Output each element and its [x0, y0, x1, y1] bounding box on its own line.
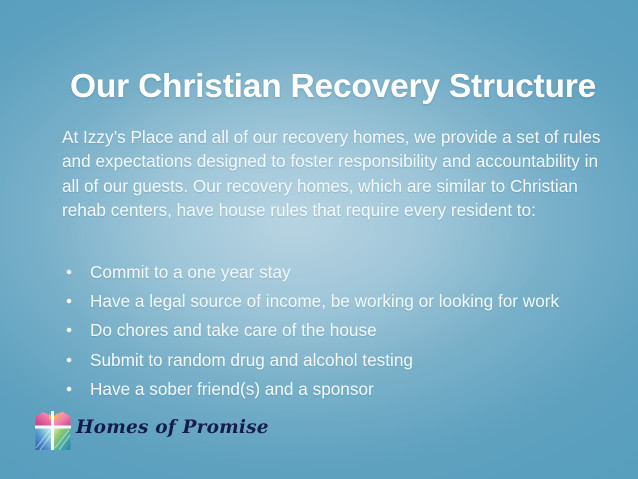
list-item: • Have a sober friend(s) and a sponsor: [62, 375, 622, 404]
slide-canvas: Our Christian Recovery Structure At Izzy…: [0, 0, 638, 479]
bullet-marker-icon: •: [66, 258, 72, 287]
list-item-label: Commit to a one year stay: [90, 262, 291, 282]
list-item: • Do chores and take care of the house: [62, 316, 622, 345]
intro-paragraph: At Izzy’s Place and all of our recovery …: [62, 125, 607, 222]
bullet-marker-icon: •: [66, 287, 72, 316]
list-item: • Commit to a one year stay: [62, 258, 622, 287]
bullet-marker-icon: •: [66, 375, 72, 404]
list-item-label: Have a sober friend(s) and a sponsor: [90, 379, 374, 399]
house-rules-list: • Commit to a one year stay • Have a leg…: [62, 258, 622, 404]
list-item-label: Have a legal source of income, be workin…: [90, 291, 559, 311]
list-item-label: Submit to random drug and alcohol testin…: [90, 350, 413, 370]
bullet-marker-icon: •: [66, 346, 72, 375]
logo-wordmark: Homes of Promise: [76, 417, 269, 438]
bullet-marker-icon: •: [66, 316, 72, 345]
list-item: • Submit to random drug and alcohol test…: [62, 346, 622, 375]
list-item: • Have a legal source of income, be work…: [62, 287, 622, 316]
list-item-label: Do chores and take care of the house: [90, 320, 377, 340]
page-title: Our Christian Recovery Structure: [70, 66, 590, 108]
gift-box-house-icon: [32, 410, 74, 454]
logo: Homes of Promise: [32, 407, 207, 457]
